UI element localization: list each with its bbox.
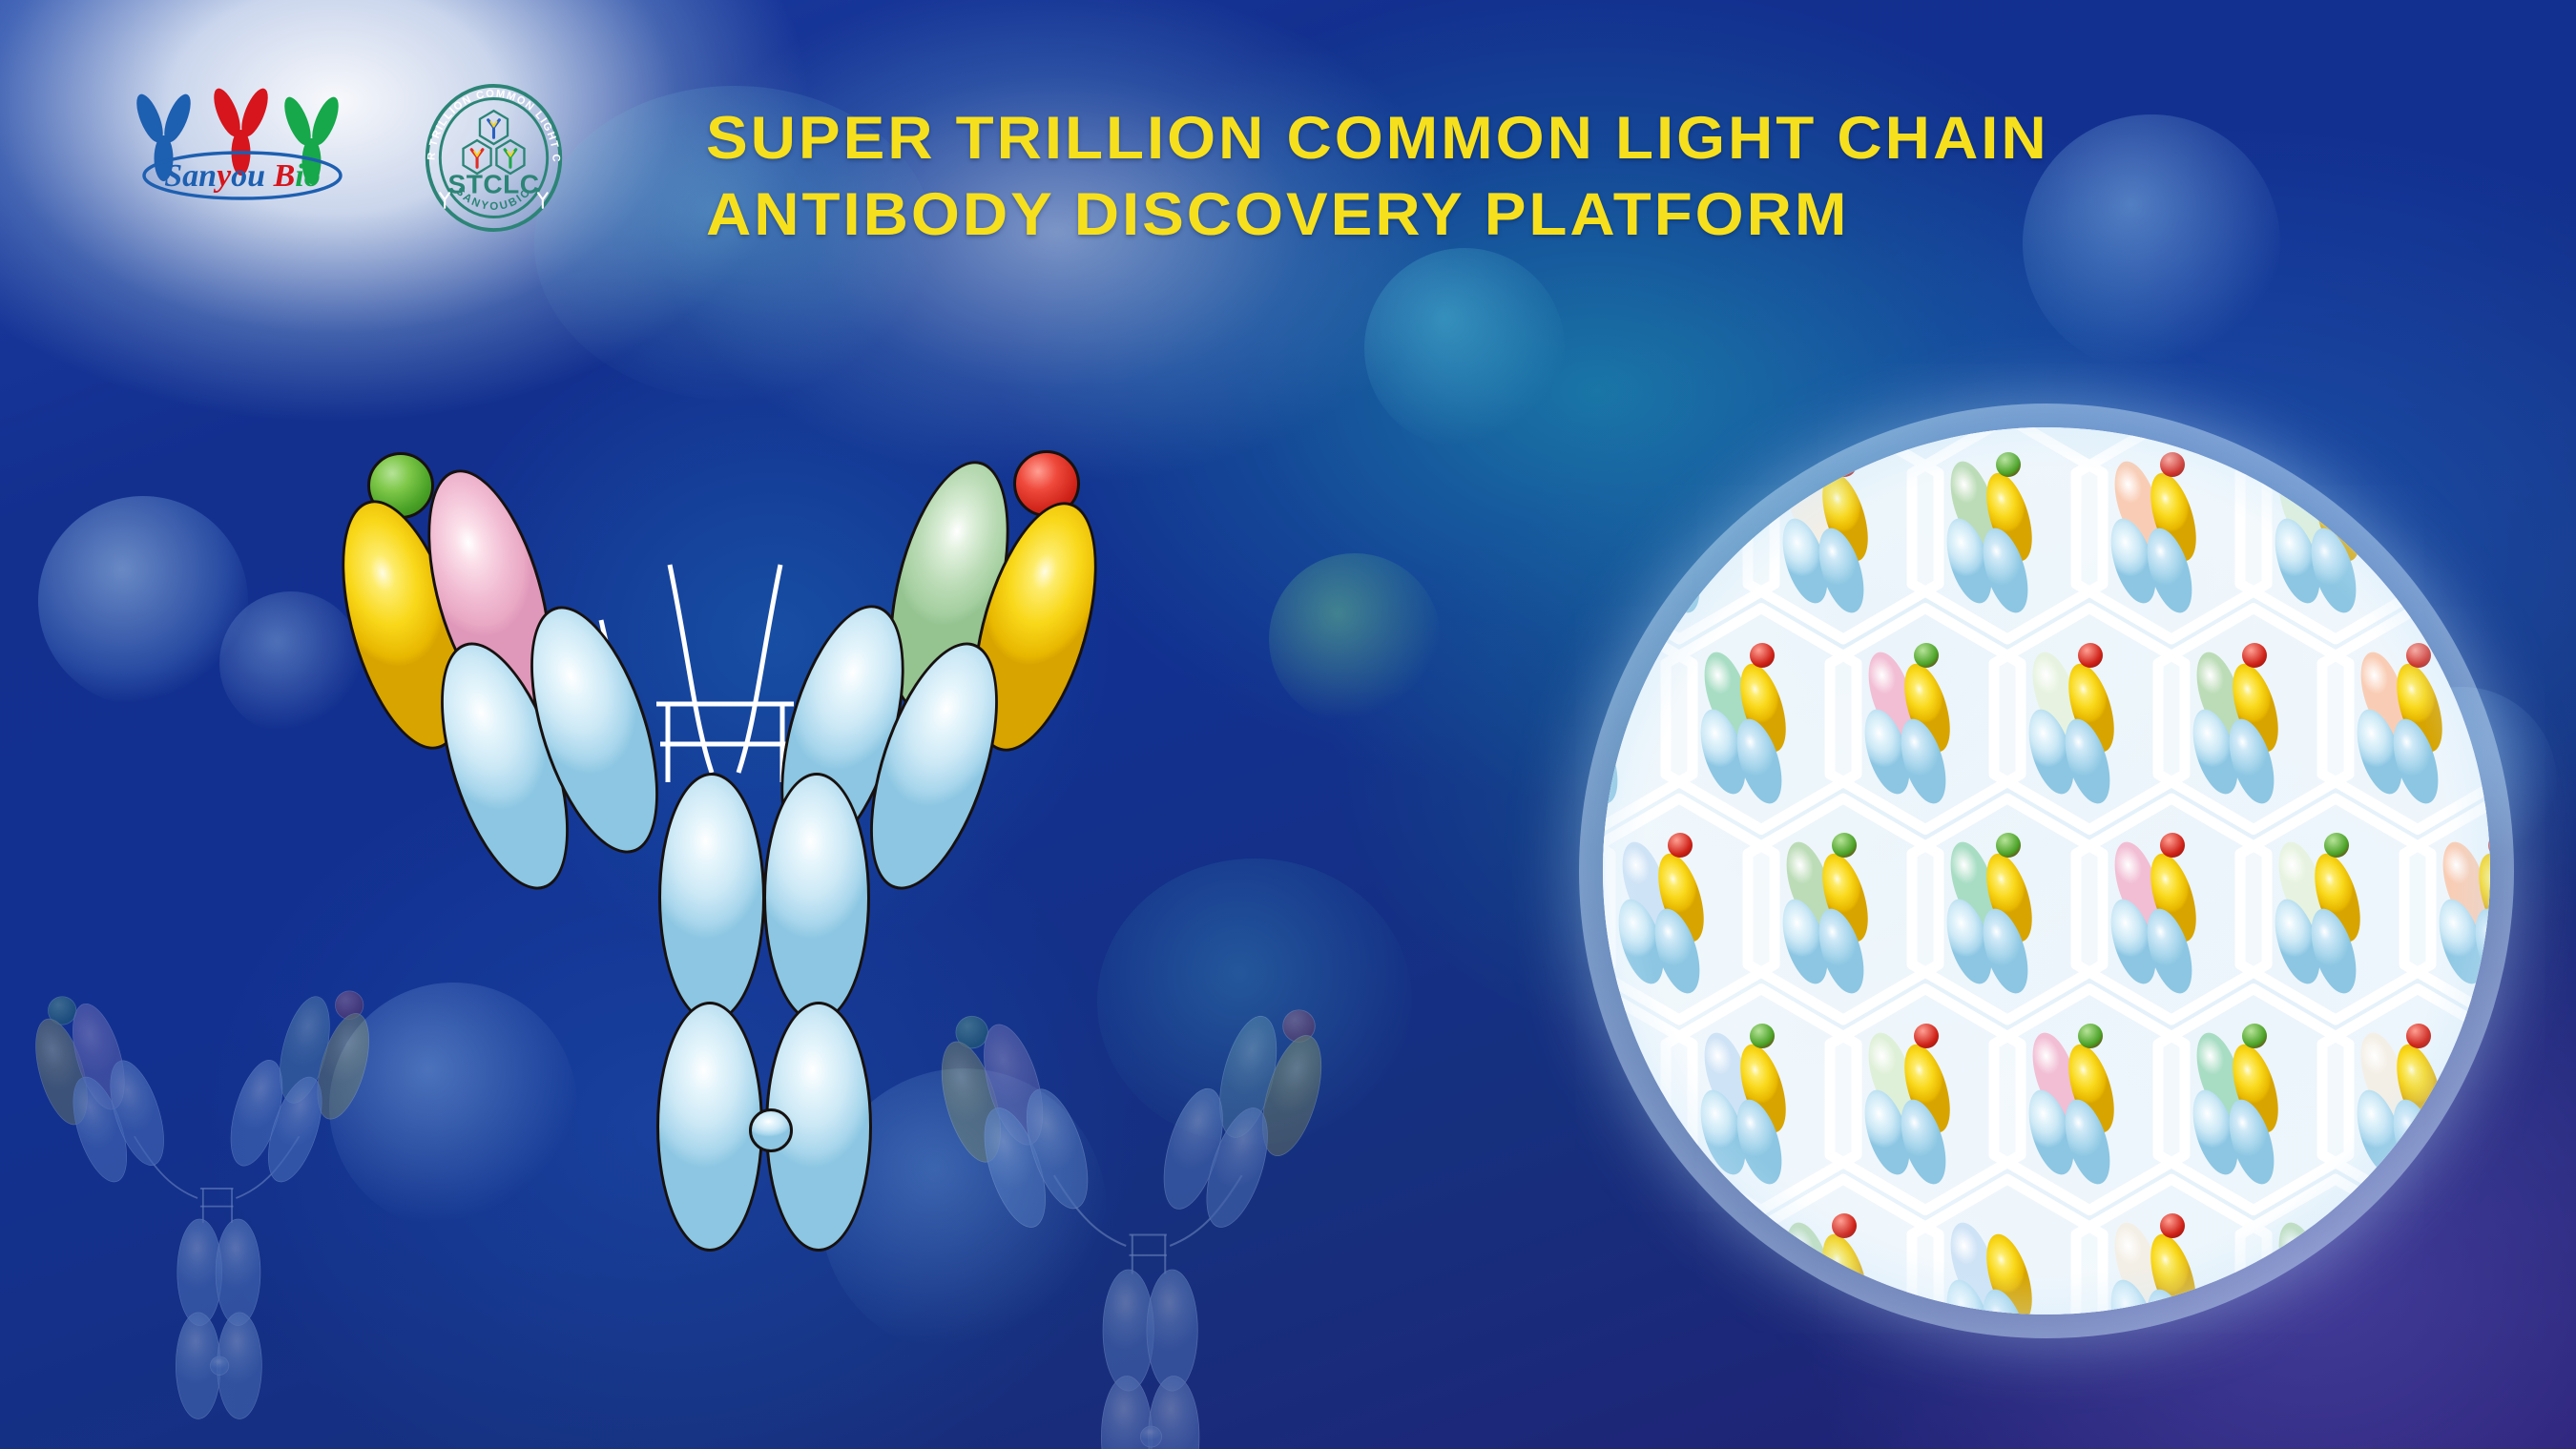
- library-antigen: [2160, 452, 2185, 477]
- library-antigen: [2160, 833, 2185, 858]
- library-antibody: [2030, 647, 2149, 799]
- library-antigen: [1832, 833, 1857, 858]
- title-line-2: ANTIBODY DISCOVERY PLATFORM: [706, 183, 2049, 246]
- library-antigen: [2242, 1024, 2267, 1048]
- library-antigen: [1996, 452, 2021, 477]
- ghost-knob-joint: [210, 1356, 229, 1376]
- library-antigen: [2324, 833, 2349, 858]
- stclc-seal-svg: SUPER TRILLION COMMON LIGHT CHAIN SANYOU…: [420, 84, 568, 232]
- library-antibody: [1620, 456, 1738, 609]
- library-antibody: [2030, 1027, 2149, 1180]
- library-antibody: [1784, 837, 1902, 989]
- library-antigen: [1832, 452, 1857, 477]
- antibody-library-panel: [1603, 427, 2490, 1314]
- library-antibody: [2194, 647, 2313, 799]
- library-antibody: [2276, 456, 2395, 609]
- library-antibody: [2112, 456, 2231, 609]
- library-antibody: [1948, 1217, 2067, 1314]
- library-antibody: [2441, 837, 2490, 989]
- library-antigen: [2078, 1024, 2103, 1048]
- knob-into-hole-joint: [749, 1108, 793, 1152]
- library-antibody: [1948, 837, 2067, 989]
- library-antibody: [2276, 1217, 2395, 1314]
- library-antibody: [2358, 647, 2477, 799]
- banner-header: Sanyou Bio SUPER TRILLION COMMON LIGHT C…: [0, 0, 2576, 229]
- library-antibody: [1702, 1027, 1820, 1180]
- ch2-domain-left: [658, 773, 765, 1023]
- library-antibody: [1784, 1217, 1902, 1314]
- library-antibody: [1948, 456, 2067, 609]
- hinge-stroke-left-inner: [670, 565, 712, 773]
- library-antigen: [1603, 643, 1610, 668]
- library-antigen: [1750, 643, 1775, 668]
- library-antibody: [1620, 837, 1738, 989]
- ghost-ch2-right: [216, 1219, 261, 1326]
- library-antigen: [2324, 1213, 2349, 1238]
- ch3-domain-left-knob: [656, 1002, 763, 1252]
- library-antibody: [1784, 456, 1902, 609]
- library-antibody: [1603, 647, 1656, 799]
- library-antigen: [1603, 1024, 1610, 1048]
- hinge-stroke-right-inner: [738, 565, 780, 773]
- sanyou-bio-wordmark: Sanyou Bio: [164, 158, 320, 194]
- sanyou-bio-logo-svg: Sanyou Bio: [124, 84, 363, 203]
- library-antigen: [2242, 643, 2267, 668]
- title-line-1: SUPER TRILLION COMMON LIGHT CHAIN: [706, 107, 2049, 170]
- main-antibody-diagram: [315, 458, 1174, 1412]
- library-antibody: [1866, 647, 1984, 799]
- library-antibody: [2112, 1217, 2231, 1314]
- library-antibody: [2112, 837, 2231, 989]
- banner-root: Sanyou Bio SUPER TRILLION COMMON LIGHT C…: [0, 0, 2576, 1449]
- library-antigen: [2078, 643, 2103, 668]
- library-antigen: [2324, 452, 2349, 477]
- ghost-knob-joint: [1140, 1426, 1162, 1448]
- library-antibody: [1702, 647, 1820, 799]
- library-antigen: [2160, 1213, 2185, 1238]
- library-antigen: [1914, 643, 1939, 668]
- sanyou-bio-logo: Sanyou Bio: [124, 84, 363, 203]
- library-antigen: [1914, 1024, 1939, 1048]
- library-antibody: [1603, 1027, 1656, 1180]
- library-antibody: [2358, 1027, 2477, 1180]
- stclc-seal-logo: SUPER TRILLION COMMON LIGHT CHAIN SANYOU…: [420, 84, 568, 232]
- library-antigen: [1668, 833, 1693, 858]
- library-antigen: [2406, 643, 2431, 668]
- page-title: SUPER TRILLION COMMON LIGHT CHAIN ANTIBO…: [706, 107, 2049, 246]
- ch2-domain-right: [763, 773, 870, 1023]
- hexagon-grid: [1603, 427, 2490, 1314]
- stclc-wordmark: STCLC: [447, 169, 539, 198]
- library-antigen: [2406, 1024, 2431, 1048]
- library-antibody: [2194, 1027, 2313, 1180]
- library-antibody: [1866, 1027, 1984, 1180]
- library-antigen: [1750, 1024, 1775, 1048]
- library-antigen: [1832, 1213, 1857, 1238]
- library-antigen: [1996, 833, 2021, 858]
- library-antibody: [2276, 837, 2395, 989]
